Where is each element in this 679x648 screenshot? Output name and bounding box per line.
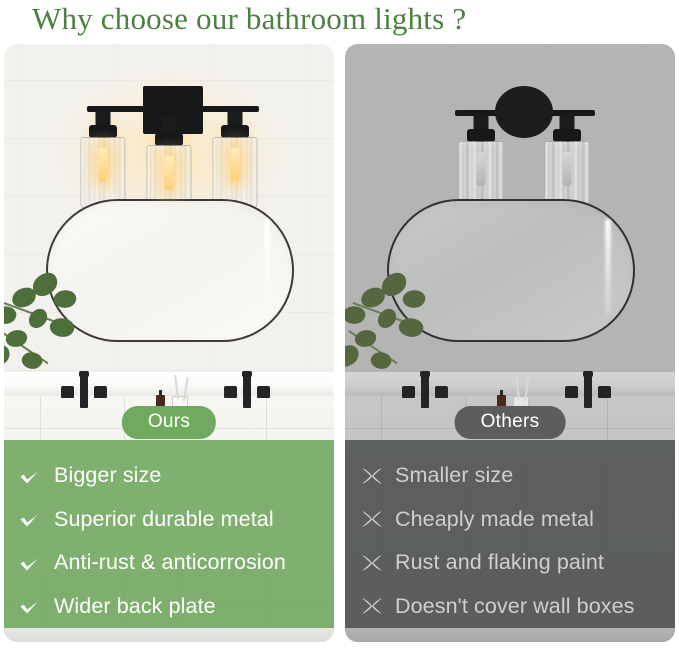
list-item: Cheaply made metal [345,507,675,532]
cross-icon [359,551,385,575]
feature-label: Doesn't cover wall boxes [395,594,635,619]
edison-bulb-icon [99,148,108,182]
feature-label: Smaller size [395,463,513,488]
check-icon [18,464,44,488]
comparison-panel-ours: Ours Bigger size Superior durable metal … [4,44,334,642]
comparison-panel-others: Others Smaller size Cheaply made metal R… [345,44,675,642]
feature-list-ours: Bigger size Superior durable metal Anti-… [4,440,334,628]
countertop [4,372,334,396]
list-item: Bigger size [4,463,334,488]
check-icon [18,507,44,531]
vanity-light-fixture-2-light [447,86,602,211]
mirror-reflection [264,219,270,315]
faucet-icon [565,370,611,410]
feature-label: Wider back plate [54,594,216,619]
edison-bulb-icon [231,148,240,182]
faucet-icon [224,370,270,410]
baseboard [345,628,675,642]
list-item: Rust and flaking paint [345,550,675,575]
badge-ours: Ours [122,406,216,439]
baseboard [4,628,334,642]
faucet-icon [402,370,448,410]
mirror-reflection [605,219,611,315]
countertop [345,372,675,396]
list-item: Wider back plate [4,594,334,619]
feature-label: Superior durable metal [54,507,274,532]
badge-others: Others [455,406,566,439]
feature-label: Bigger size [54,463,161,488]
edison-bulb-icon [165,156,174,190]
list-item: Doesn't cover wall boxes [345,594,675,619]
cross-icon [359,464,385,488]
cross-icon [359,594,385,618]
edison-bulb-icon [477,152,486,186]
cross-icon [359,507,385,531]
faucet-icon [61,370,107,410]
comparison-container: Ours Bigger size Superior durable metal … [0,44,679,648]
list-item: Smaller size [345,463,675,488]
feature-label: Rust and flaking paint [395,550,604,575]
page-title: Why choose our bathroom lights ? [32,1,466,37]
feature-label: Anti-rust & anticorrosion [54,550,286,575]
feature-label: Cheaply made metal [395,507,594,532]
list-item: Anti-rust & anticorrosion [4,550,334,575]
edison-bulb-icon [563,152,572,186]
check-icon [18,551,44,575]
check-icon [18,594,44,618]
feature-list-others: Smaller size Cheaply made metal Rust and… [345,440,675,628]
list-item: Superior durable metal [4,507,334,532]
